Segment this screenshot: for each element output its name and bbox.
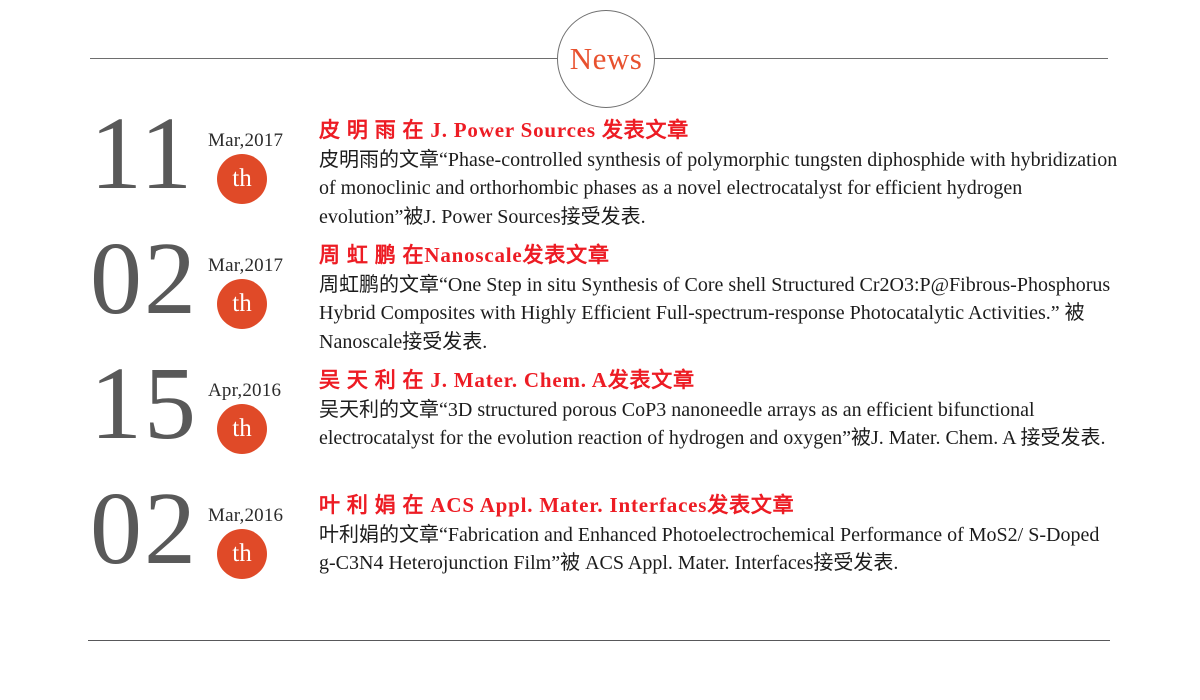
date-ordinal-badge: th (217, 404, 267, 454)
news-title[interactable]: 周 虹 鹏 在Nanoscale发表文章 (319, 243, 1119, 269)
news-body: 皮明雨的文章“Phase-controlled synthesis of pol… (319, 146, 1119, 232)
date-month-year: Apr,2016 (208, 380, 281, 402)
news-badge-label: News (570, 43, 643, 74)
date-month-year: Mar,2017 (208, 255, 283, 277)
news-body: 周虹鹏的文章“One Step in situ Synthesis of Cor… (319, 271, 1119, 357)
footer-divider-line (88, 640, 1110, 641)
date-ordinal-label: th (232, 166, 251, 191)
news-title[interactable]: 吴 天 利 在 J. Mater. Chem. A发表文章 (319, 368, 1119, 394)
news-title[interactable]: 叶 利 娟 在 ACS Appl. Mater. Interfaces发表文章 (319, 493, 1119, 519)
news-body: 叶利娟的文章“Fabrication and Enhanced Photoele… (319, 521, 1119, 579)
news-content: 叶 利 娟 在 ACS Appl. Mater. Interfaces发表文章 … (319, 493, 1119, 578)
date-block: 15 Apr,2016 th (90, 368, 305, 488)
date-block: 02 Mar,2017 th (90, 243, 305, 363)
date-block: 11 Mar,2017 th (90, 118, 305, 238)
date-ordinal-badge: th (217, 154, 267, 204)
date-ordinal-label: th (232, 416, 251, 441)
news-list: 11 Mar,2017 th 皮 明 雨 在 J. Power Sources … (0, 118, 1200, 603)
news-content: 周 虹 鹏 在Nanoscale发表文章 周虹鹏的文章“One Step in … (319, 243, 1119, 357)
news-content: 吴 天 利 在 J. Mater. Chem. A发表文章 吴天利的文章“3D … (319, 368, 1119, 453)
date-ordinal-label: th (232, 291, 251, 316)
date-ordinal-badge: th (217, 279, 267, 329)
news-item[interactable]: 02 Mar,2016 th 叶 利 娟 在 ACS Appl. Mater. … (0, 493, 1200, 603)
news-title[interactable]: 皮 明 雨 在 J. Power Sources 发表文章 (319, 118, 1119, 144)
date-block: 02 Mar,2016 th (90, 493, 305, 613)
date-day: 15 (90, 352, 198, 456)
date-day: 11 (90, 102, 194, 206)
news-badge: News (557, 10, 655, 108)
date-month-year: Mar,2016 (208, 505, 283, 527)
date-day: 02 (90, 227, 198, 331)
news-body: 吴天利的文章“3D structured porous CoP3 nanonee… (319, 396, 1119, 454)
date-month-year: Mar,2017 (208, 130, 283, 152)
news-content: 皮 明 雨 在 J. Power Sources 发表文章 皮明雨的文章“Pha… (319, 118, 1119, 232)
date-ordinal-label: th (232, 541, 251, 566)
date-ordinal-badge: th (217, 529, 267, 579)
date-day: 02 (90, 477, 198, 581)
